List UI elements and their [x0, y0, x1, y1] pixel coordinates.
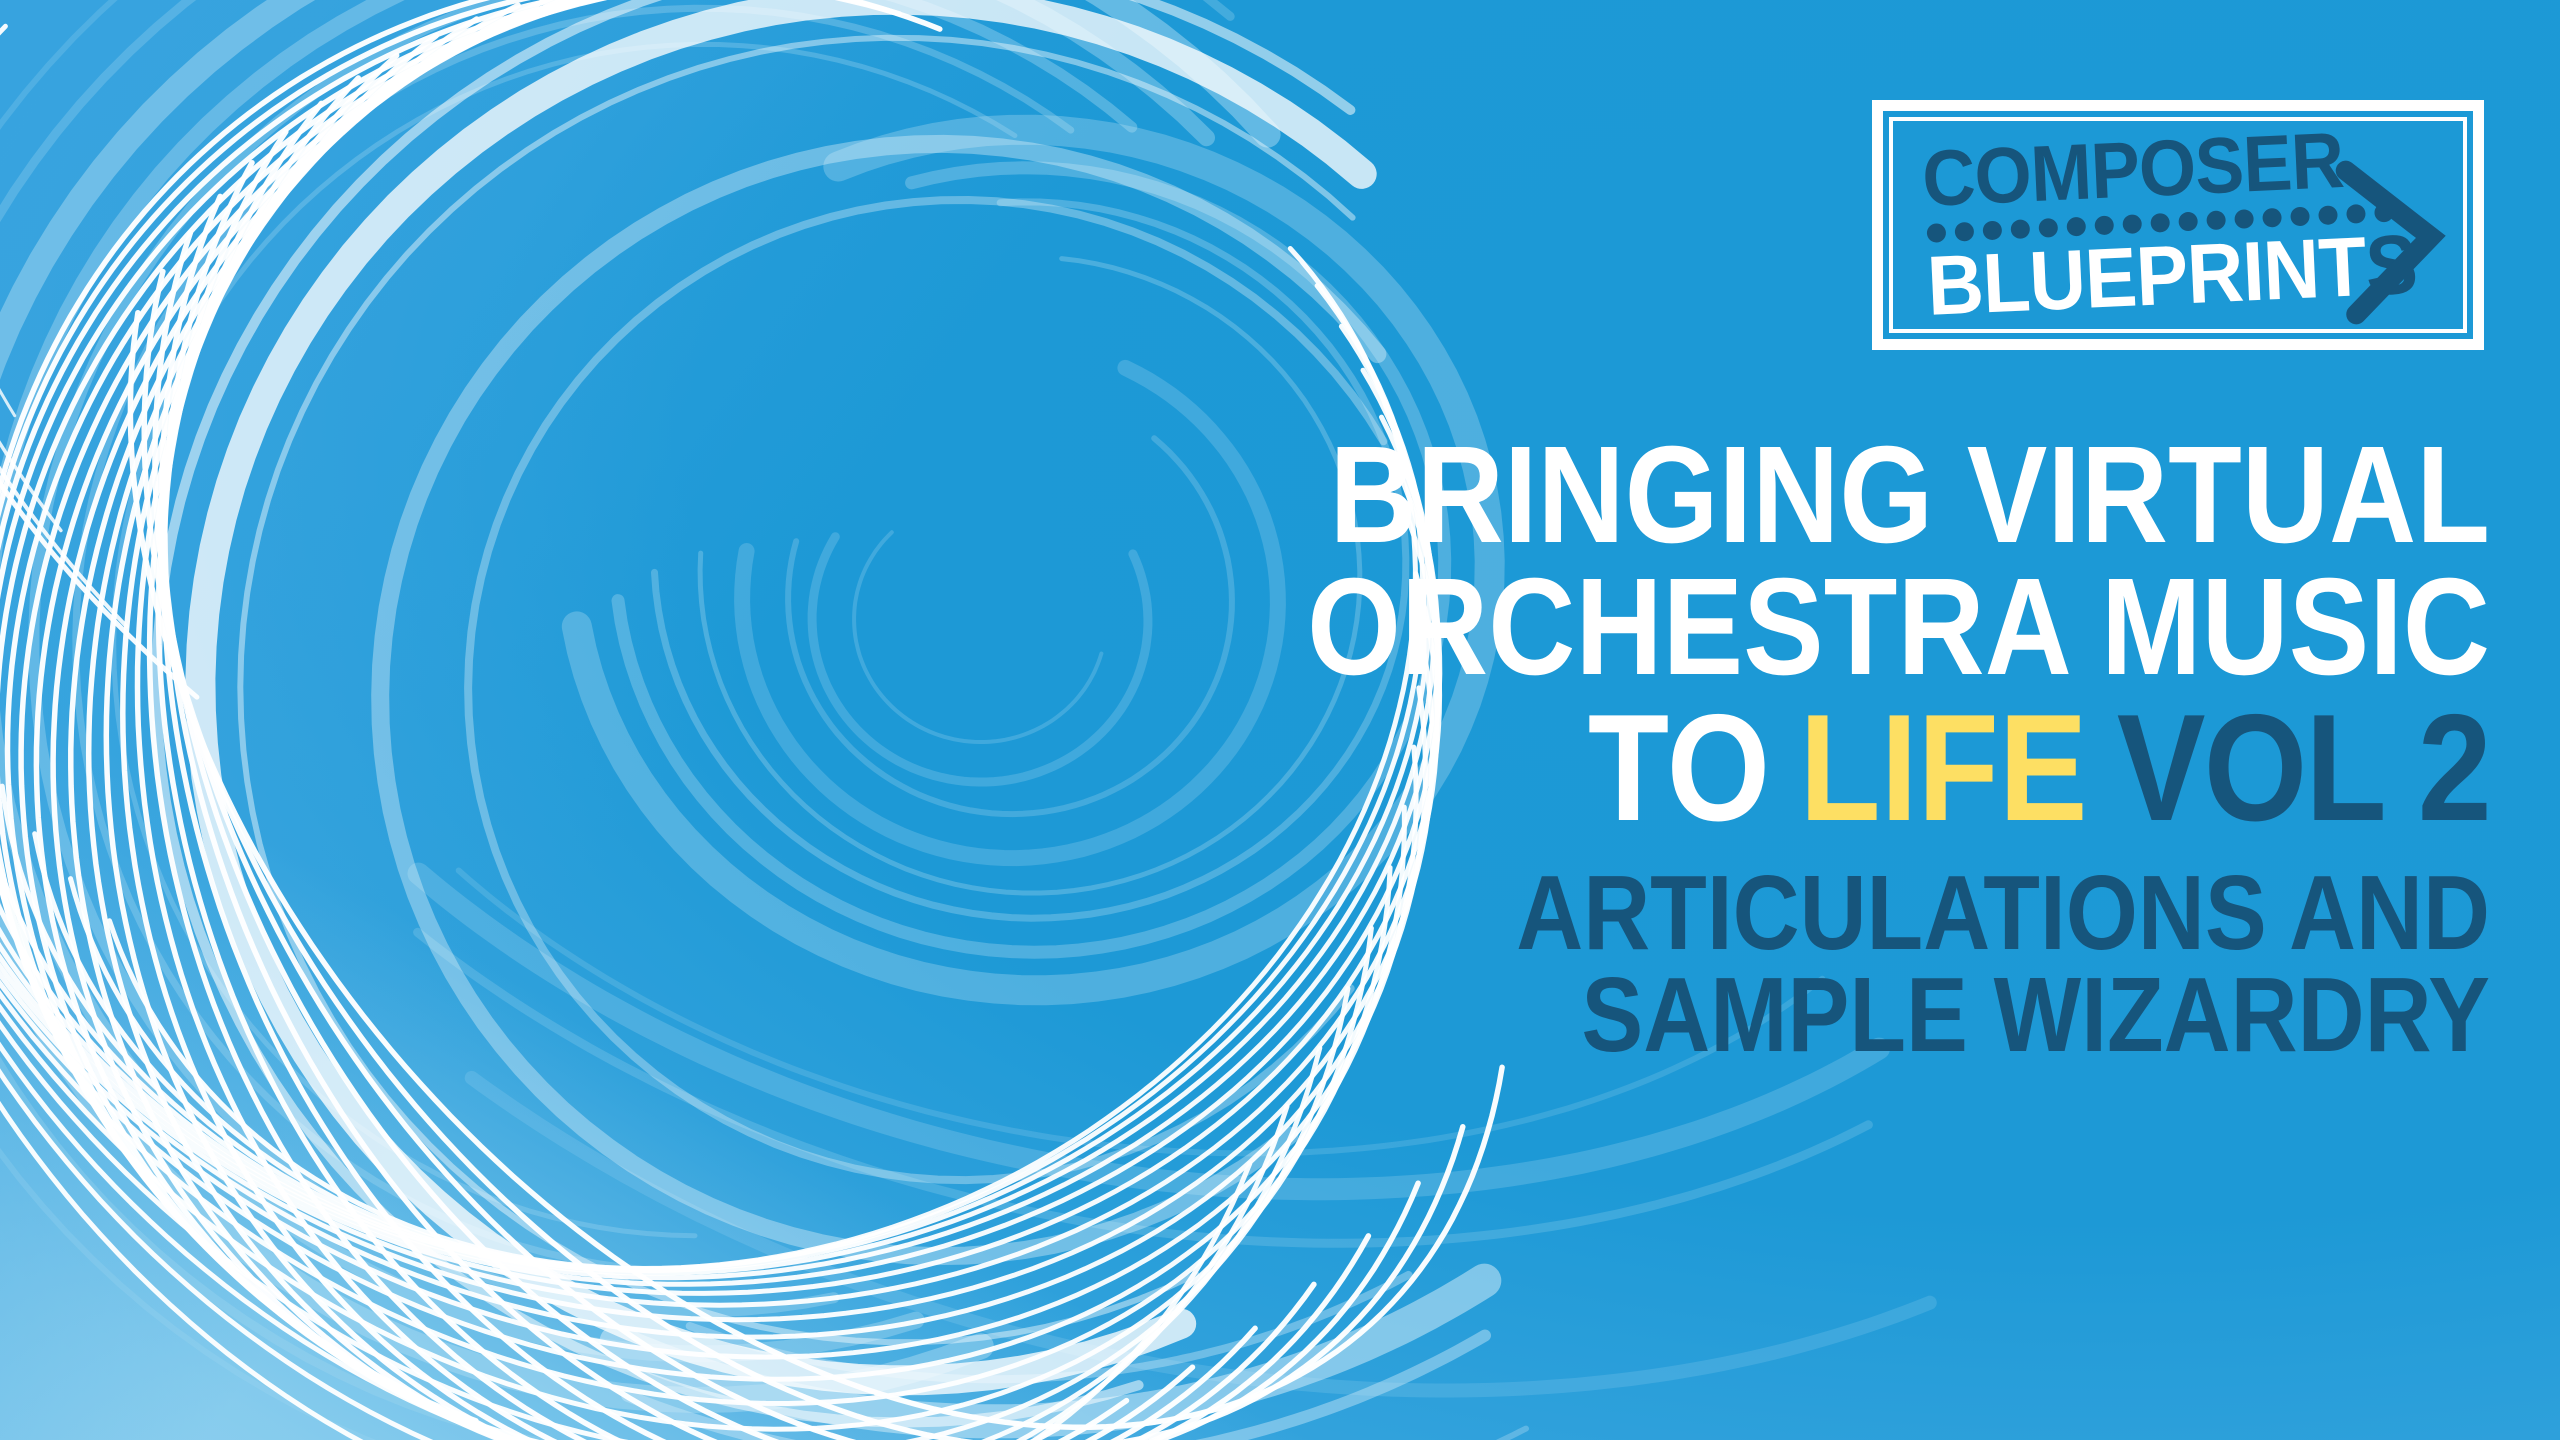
chevron-right-icon: [2315, 144, 2453, 340]
composer-blueprints-logo[interactable]: COMPOSER BLUEPRINTS: [1872, 100, 2484, 350]
title-card: COMPOSER BLUEPRINTS BRINGING VIRTUAL ORC…: [0, 0, 2560, 1440]
logo-inner-border: COMPOSER BLUEPRINTS: [1889, 117, 2467, 333]
title-block: BRINGING VIRTUAL ORCHESTRA MUSIC TOLIFEV…: [700, 430, 2490, 1069]
title-line-2: ORCHESTRA MUSIC: [924, 562, 2490, 694]
title-line-1: BRINGING VIRTUAL: [924, 430, 2490, 562]
title-line-3: TOLIFEVOL 2: [924, 696, 2490, 841]
logo-blueprints-main: BLUEPRINT: [1925, 219, 2367, 333]
title-word-to: TO: [1588, 683, 1770, 853]
subtitle-line-1: ARTICULATIONS AND: [924, 859, 2490, 967]
subtitle-line-2: SAMPLE WIZARDRY: [924, 961, 2490, 1069]
title-word-life: LIFE: [1799, 683, 2087, 853]
title-word-vol: VOL 2: [2117, 683, 2490, 853]
